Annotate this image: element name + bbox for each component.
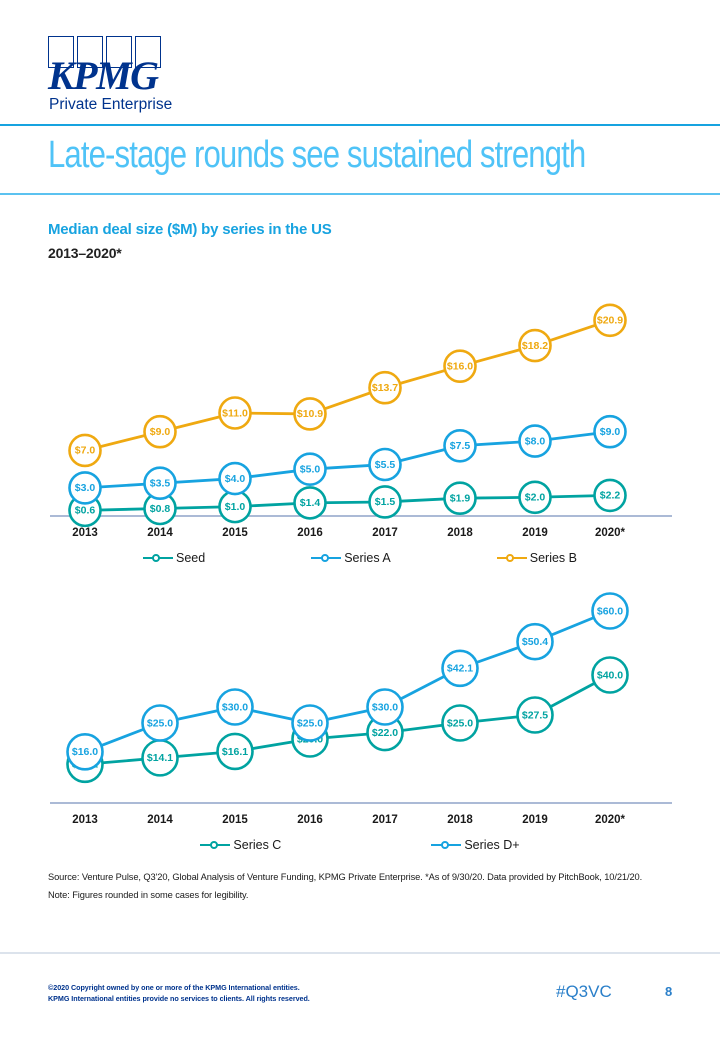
x-tick-label: 2016 (297, 814, 323, 826)
x-tick-label: 2018 (447, 527, 473, 539)
x-tick-label: 2018 (447, 814, 473, 826)
legend2-item-series-c[interactable]: Series C (200, 838, 281, 852)
data-point-label: $11.0 (222, 407, 248, 419)
data-point-label: $7.5 (450, 440, 471, 452)
chart-series-abc: 20132014201520162017201820192020*$0.6$0.… (0, 280, 720, 580)
source-note: Source: Venture Pulse, Q3'20, Global Ana… (48, 872, 642, 882)
data-point-label: $27.5 (522, 709, 548, 721)
header-divider (0, 124, 720, 126)
page-title: Late-stage rounds see sustained strength (48, 134, 585, 177)
legend-label: Series C (233, 838, 281, 852)
page-number: 8 (665, 984, 672, 999)
data-point-label: $22.0 (372, 727, 398, 739)
chart-series-cd: 20132014201520162017201820192020*$12.1$1… (0, 585, 720, 865)
data-point-label: $1.4 (300, 497, 321, 509)
data-point-label: $7.0 (75, 445, 96, 457)
legend-marker-icon (311, 552, 341, 564)
data-point-label: $9.0 (600, 426, 621, 438)
data-point-label: $42.1 (447, 663, 473, 675)
data-point-label: $5.5 (375, 459, 396, 471)
chart-date-range: 2013–2020* (48, 245, 122, 261)
data-point-label: $25.0 (147, 717, 173, 729)
x-tick-label: 2016 (297, 527, 323, 539)
rounding-note: Note: Figures rounded in some cases for … (48, 890, 248, 900)
data-point-label: $3.5 (150, 478, 171, 490)
x-tick-label: 2013 (72, 527, 98, 539)
title-divider (0, 193, 720, 195)
data-point-label: $1.9 (450, 492, 471, 504)
data-point-label: $30.0 (222, 701, 248, 713)
legend-marker-icon (200, 839, 230, 851)
data-point-label: $9.0 (150, 426, 171, 438)
legend1-item-seed[interactable]: Seed (143, 551, 205, 565)
data-point-label: $50.4 (522, 636, 548, 648)
slide-page: KPMG Private Enterprise Late-stage round… (0, 0, 720, 1040)
legend2-item-series-d-[interactable]: Series D+ (431, 838, 519, 852)
legend-label: Seed (176, 551, 205, 565)
data-point-label: $16.1 (222, 746, 248, 758)
data-point-label: $2.0 (525, 492, 546, 504)
data-point-label: $40.0 (597, 669, 623, 681)
x-tick-label: 2013 (72, 814, 98, 826)
footer-divider (0, 952, 720, 954)
data-point-label: $20.9 (597, 315, 623, 327)
data-point-label: $1.0 (225, 501, 246, 513)
legend-marker-icon (497, 552, 527, 564)
x-tick-label: 2020* (595, 814, 626, 826)
data-point-label: $60.0 (597, 605, 623, 617)
data-point-label: $8.0 (525, 435, 546, 447)
x-tick-label: 2017 (372, 814, 398, 826)
x-tick-label: 2017 (372, 527, 398, 539)
data-point-label: $0.6 (75, 505, 96, 517)
copyright-line-2: KPMG International entities provide no s… (48, 994, 310, 1003)
data-point-label: $0.8 (150, 503, 171, 515)
kpmg-logo: KPMG Private Enterprise (48, 36, 198, 108)
data-point-label: $18.2 (522, 340, 548, 352)
legend-marker-icon (431, 839, 461, 851)
kpmg-wordmark: KPMG (48, 56, 158, 96)
x-tick-label: 2014 (147, 814, 173, 826)
data-point-label: $5.0 (300, 463, 321, 475)
data-point-label: $16.0 (72, 746, 98, 758)
legend-marker-icon (143, 552, 173, 564)
data-point-label: $14.1 (147, 752, 173, 764)
chart1-legend: SeedSeries ASeries B (48, 551, 672, 565)
data-point-label: $13.7 (372, 382, 398, 394)
legend-label: Series A (344, 551, 391, 565)
chart2-legend: Series CSeries D+ (48, 838, 672, 852)
kpmg-tagline: Private Enterprise (49, 96, 172, 114)
x-tick-label: 2019 (522, 814, 548, 826)
legend-label: Series B (530, 551, 577, 565)
x-tick-label: 2020* (595, 527, 626, 539)
x-tick-label: 2019 (522, 527, 548, 539)
legend1-item-series-a[interactable]: Series A (311, 551, 391, 565)
chart2-svg: 20132014201520162017201820192020*$12.1$1… (0, 585, 720, 865)
data-point-label: $1.5 (375, 496, 396, 508)
data-point-label: $2.2 (600, 490, 621, 502)
data-point-label: $3.0 (75, 482, 96, 494)
legend1-item-series-b[interactable]: Series B (497, 551, 577, 565)
hashtag-label: #Q3VC (556, 982, 612, 1002)
data-point-label: $10.9 (297, 408, 323, 420)
x-tick-label: 2015 (222, 527, 248, 539)
chart1-svg: 20132014201520162017201820192020*$0.6$0.… (0, 280, 720, 580)
chart-subtitle: Median deal size ($M) by series in the U… (48, 221, 332, 238)
data-point-label: $4.0 (225, 473, 246, 485)
legend-label: Series D+ (464, 838, 519, 852)
x-tick-label: 2015 (222, 814, 248, 826)
data-point-label: $25.0 (297, 717, 323, 729)
data-point-label: $30.0 (372, 701, 398, 713)
copyright-line-1: ©2020 Copyright owned by one or more of … (48, 983, 300, 992)
data-point-label: $16.0 (447, 360, 473, 372)
data-point-label: $25.0 (447, 717, 473, 729)
x-tick-label: 2014 (147, 527, 173, 539)
